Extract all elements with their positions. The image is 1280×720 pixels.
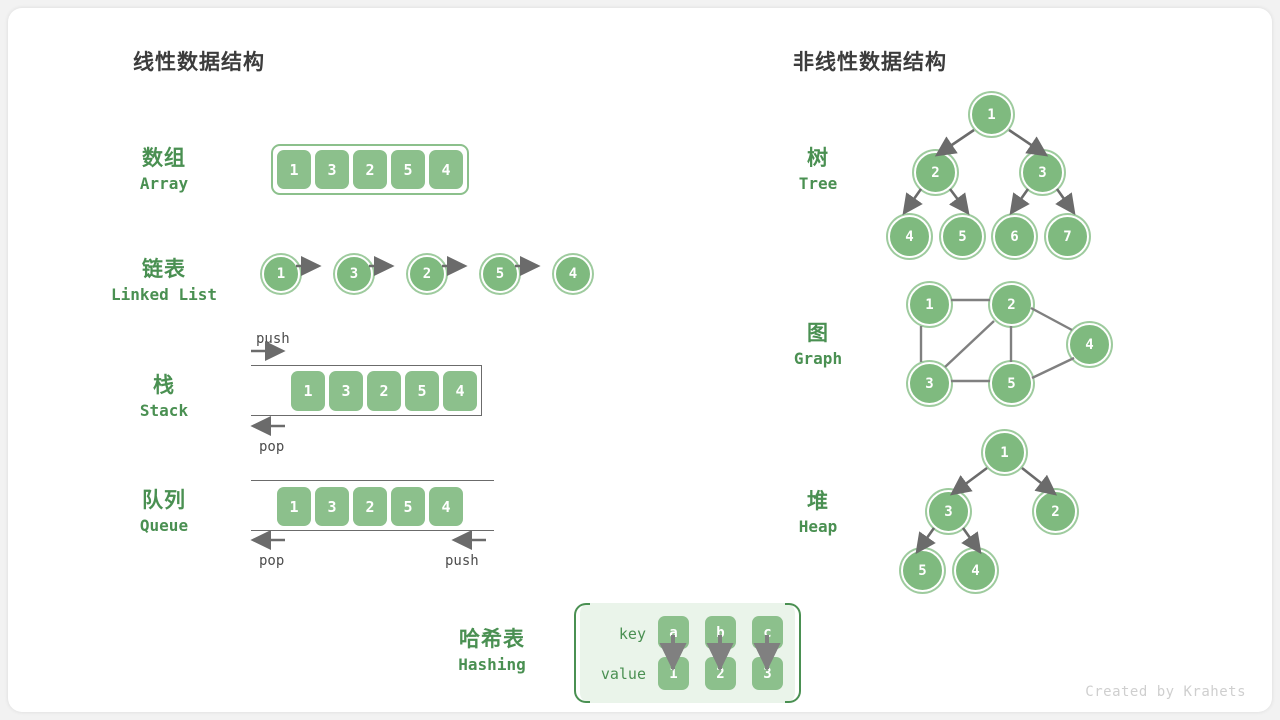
credit-footer: Created by Krahets	[1085, 684, 1246, 700]
tree-node-leaf: 7	[1046, 215, 1089, 258]
tree-node: 3	[1021, 151, 1064, 194]
hash-value-cell: 1	[658, 657, 689, 690]
heap-label-en: Heap	[763, 515, 873, 539]
graph-node: 1	[908, 283, 951, 326]
stack-cell: 4	[443, 371, 477, 411]
linked-list-node: 2	[408, 255, 446, 293]
tree-label-en: Tree	[763, 172, 873, 196]
stack-label-cn: 栈	[115, 373, 213, 399]
array-cell: 5	[391, 150, 425, 189]
queue-label-cn: 队列	[115, 488, 213, 514]
heap-node-leaf: 5	[901, 549, 944, 592]
queue-label: 队列 Queue	[115, 488, 213, 538]
queue-pop-label: pop	[259, 553, 284, 569]
graph-node: 3	[908, 362, 951, 405]
graph-label-cn: 图	[763, 321, 873, 347]
stack-container: 1 3 2 5 4	[251, 365, 482, 416]
queue-container: 1 3 2 5 4	[251, 480, 494, 531]
tree-node-leaf: 4	[888, 215, 931, 258]
heap-node: 2	[1034, 490, 1077, 533]
hash-value-cell: 3	[752, 657, 783, 690]
stack-cell: 1	[291, 371, 325, 411]
queue-label-en: Queue	[115, 514, 213, 538]
hash-value-cell: 2	[705, 657, 736, 690]
stack-push-label: push	[256, 331, 290, 347]
graph-node: 2	[990, 283, 1033, 326]
queue-cell: 1	[277, 487, 311, 526]
tree-node-root: 1	[970, 93, 1013, 136]
tree-node: 2	[914, 151, 957, 194]
queue-cell: 4	[429, 487, 463, 526]
linked-list-label-en: Linked List	[93, 283, 235, 307]
array-label: 数组 Array	[115, 146, 213, 196]
tree-node-leaf: 5	[941, 215, 984, 258]
stack-cell: 3	[329, 371, 363, 411]
hashing-panel: key value a b c 1 2 3	[580, 603, 795, 703]
array-cell: 4	[429, 150, 463, 189]
hashing-label-cn: 哈希表	[428, 627, 556, 653]
diagram-card: 线性数据结构 非线性数据结构 数组 Array 1 3 2 5 4 链表 Lin…	[8, 8, 1272, 712]
hash-key-cell: b	[705, 616, 736, 649]
linked-list-node: 5	[481, 255, 519, 293]
nonlinear-section-title: 非线性数据结构	[793, 46, 947, 76]
hashing-label: 哈希表 Hashing	[428, 627, 556, 677]
linked-list-node: 3	[335, 255, 373, 293]
linked-list-node: 4	[554, 255, 592, 293]
graph-node: 5	[990, 362, 1033, 405]
hashing-label-en: Hashing	[428, 653, 556, 677]
array-cell: 2	[353, 150, 387, 189]
linked-list-node: 1	[262, 255, 300, 293]
graph-node: 4	[1068, 323, 1111, 366]
graph-label: 图 Graph	[763, 321, 873, 371]
stack-cell: 5	[405, 371, 439, 411]
queue-cell: 3	[315, 487, 349, 526]
hash-value-label: value	[586, 665, 646, 683]
array-cell: 3	[315, 150, 349, 189]
stack-cell: 2	[367, 371, 401, 411]
tree-node-leaf: 6	[993, 215, 1036, 258]
linear-section-title: 线性数据结构	[133, 46, 265, 76]
tree-label-cn: 树	[763, 146, 873, 172]
hash-key-cell: a	[658, 616, 689, 649]
stack-label-en: Stack	[115, 399, 213, 423]
hash-key-cell: c	[752, 616, 783, 649]
brace-right-icon	[785, 603, 801, 703]
tree-label: 树 Tree	[763, 146, 873, 196]
hash-key-label: key	[594, 625, 646, 643]
queue-cell: 2	[353, 487, 387, 526]
linked-list-label-cn: 链表	[93, 257, 235, 283]
stack-label: 栈 Stack	[115, 373, 213, 423]
array-label-cn: 数组	[115, 146, 213, 172]
queue-cell: 5	[391, 487, 425, 526]
array-container: 1 3 2 5 4	[271, 144, 469, 195]
linked-list-label: 链表 Linked List	[93, 257, 235, 307]
heap-node-root: 1	[983, 431, 1026, 474]
queue-push-label: push	[445, 553, 479, 569]
stack-pop-label: pop	[259, 439, 284, 455]
array-label-en: Array	[115, 172, 213, 196]
graph-label-en: Graph	[763, 347, 873, 371]
heap-label: 堆 Heap	[763, 489, 873, 539]
heap-node: 3	[927, 490, 970, 533]
heap-node-leaf: 4	[954, 549, 997, 592]
brace-left-icon	[574, 603, 590, 703]
heap-label-cn: 堆	[763, 489, 873, 515]
array-cell: 1	[277, 150, 311, 189]
